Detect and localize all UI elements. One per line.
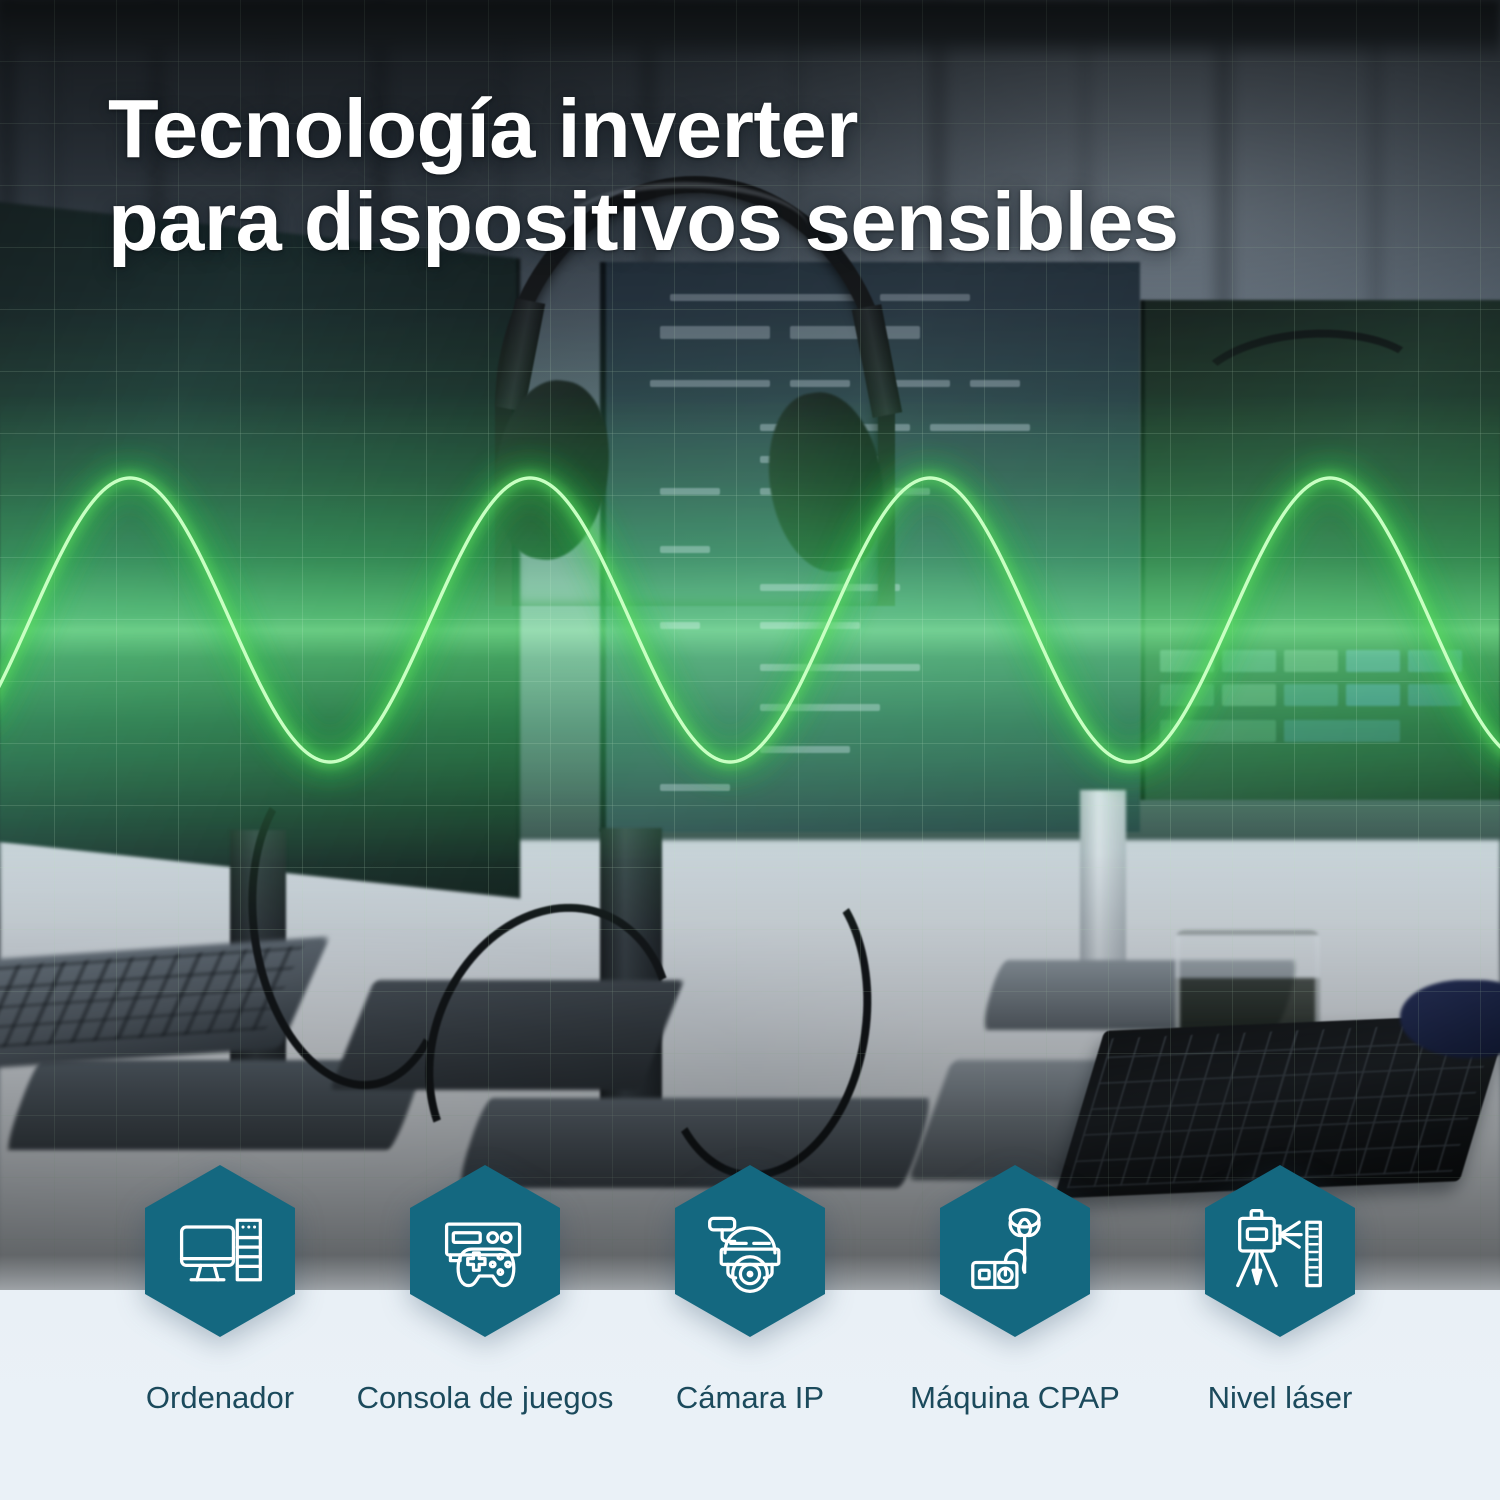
- device-badge-camara-ip[interactable]: [675, 1165, 825, 1337]
- headline-line-1: Tecnología inverter: [108, 82, 858, 175]
- device-label-ordenador: Ordenador: [88, 1380, 353, 1416]
- device-label-maquina-cpap: Máquina CPAP: [883, 1380, 1148, 1416]
- desktop-computer-icon: [172, 1203, 268, 1299]
- poster-canvas: Tecnología inverter para dispositivos se…: [0, 0, 1500, 1500]
- page-title: Tecnología inverter para dispositivos se…: [108, 83, 1368, 269]
- device-badge-row: [0, 1165, 1500, 1340]
- device-badge-maquina-cpap[interactable]: [940, 1165, 1090, 1337]
- headline-line-2: para dispositivos sensibles: [108, 176, 1368, 269]
- ip-dome-camera-icon: [702, 1203, 798, 1299]
- device-badge-nivel-laser[interactable]: [1205, 1165, 1355, 1337]
- device-label-nivel-laser: Nivel láser: [1148, 1380, 1413, 1416]
- device-label-camara-ip: Cámara IP: [618, 1380, 883, 1416]
- device-badge-consola-de-juegos[interactable]: [410, 1165, 560, 1337]
- device-label-row: Ordenador Consola de juegos Cámara IP Má…: [0, 1380, 1500, 1416]
- laser-level-icon: [1232, 1203, 1328, 1299]
- game-console-icon: [437, 1203, 533, 1299]
- device-badge-ordenador[interactable]: [145, 1165, 295, 1337]
- cpap-machine-icon: [967, 1203, 1063, 1299]
- device-label-consola-de-juegos: Consola de juegos: [353, 1380, 618, 1416]
